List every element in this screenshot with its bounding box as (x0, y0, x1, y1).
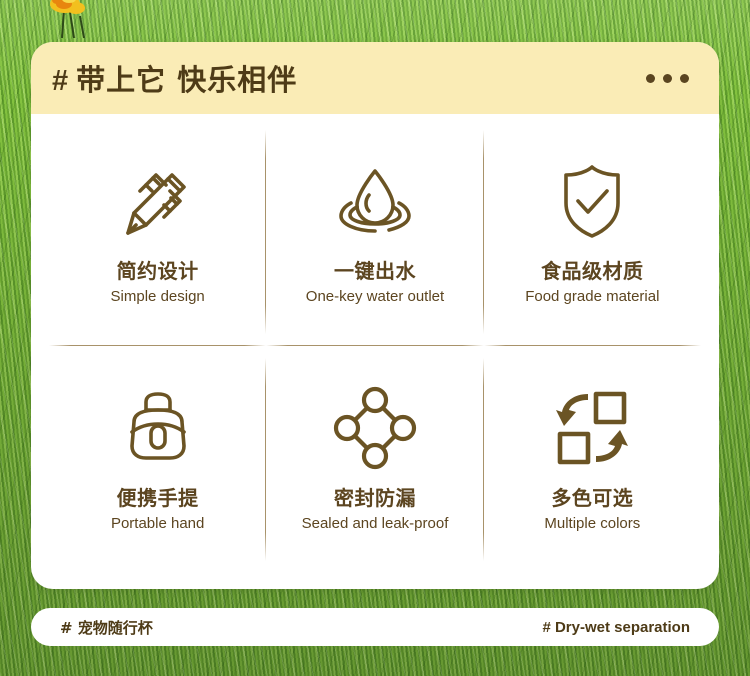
ellipsis-dot-3 (680, 74, 689, 83)
ellipsis-dot-2 (663, 74, 672, 83)
feature-cell-simple-design[interactable]: 简约设计 Simple design (49, 118, 266, 346)
handbag-icon (112, 380, 204, 476)
ellipsis-icon[interactable] (646, 74, 693, 83)
feature-title-cn: 一键出水 (334, 259, 416, 284)
page-title: #带上它 快乐相伴 (52, 57, 297, 99)
feature-title-cn: 简约设计 (117, 259, 199, 284)
feature-title-en: Sealed and leak-proof (302, 515, 449, 534)
feature-title-cn: 食品级材质 (541, 259, 644, 284)
feature-title-en: Portable hand (111, 515, 204, 534)
feature-title-en: Simple design (111, 288, 205, 307)
feature-title-cn: 便携手提 (117, 486, 199, 511)
feature-title-en: One-key water outlet (306, 288, 444, 307)
hash-symbol: # (52, 65, 69, 97)
feature-card: #带上它 快乐相伴 (31, 42, 719, 589)
water-drop-ripple-icon (329, 153, 421, 249)
feature-grid: 简约设计 Simple design 一键出水 One-key wat (31, 114, 719, 589)
feature-cell-food-grade-material[interactable]: 食品级材质 Food grade material (484, 118, 701, 346)
footer-tag-left[interactable]: # 宠物随行杯 (60, 617, 153, 638)
dandelion-flower-icon (40, 0, 104, 40)
feature-cell-portable-hand[interactable]: 便携手提 Portable hand (49, 346, 266, 574)
footer-tag-right[interactable]: # Dry-wet separation (542, 619, 690, 636)
feature-cell-sealed-leak-proof[interactable]: 密封防漏 Sealed and leak-proof (266, 346, 483, 574)
feature-title-cn: 多色可选 (551, 486, 633, 511)
feature-cell-one-key-water-outlet[interactable]: 一键出水 One-key water outlet (266, 118, 483, 346)
header-banner: #带上它 快乐相伴 (31, 42, 719, 114)
feature-title-en: Food grade material (525, 288, 659, 307)
feature-cell-multiple-colors[interactable]: 多色可选 Multiple colors (484, 346, 701, 574)
four-circle-seal-icon (329, 380, 421, 476)
page-title-text: 带上它 快乐相伴 (76, 63, 297, 97)
swap-squares-icon (546, 380, 638, 476)
shield-check-icon (546, 153, 638, 249)
ellipsis-dot-1 (646, 74, 655, 83)
feature-title-cn: 密封防漏 (334, 486, 416, 511)
footer-bar: # 宠物随行杯 # Dry-wet separation (31, 608, 719, 646)
pencil-ruler-icon (112, 153, 204, 249)
feature-title-en: Multiple colors (544, 515, 640, 534)
